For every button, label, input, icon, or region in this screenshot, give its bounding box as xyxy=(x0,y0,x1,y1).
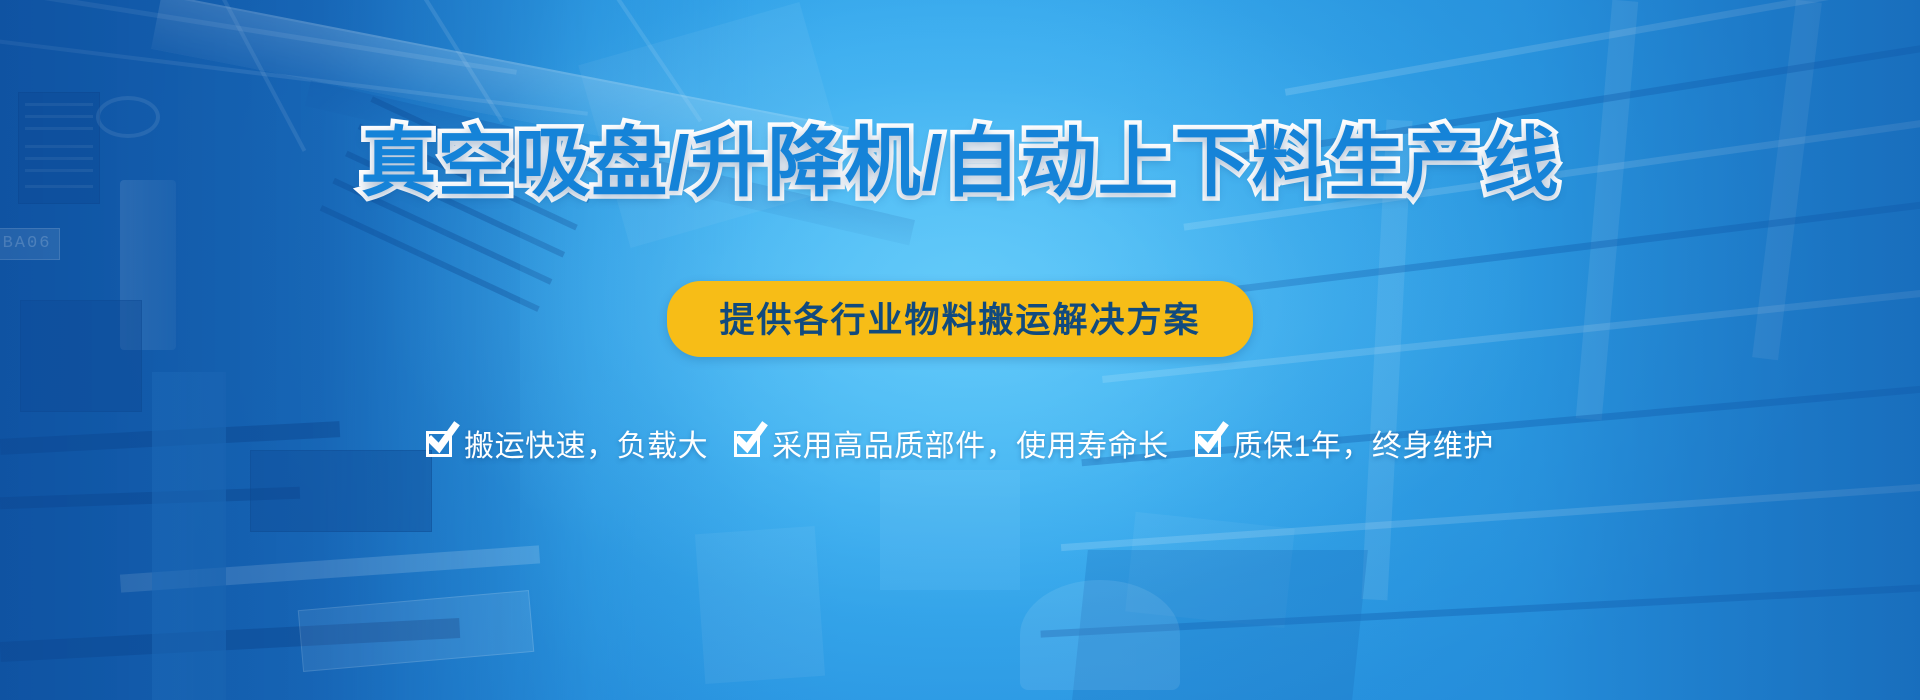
check-square-icon xyxy=(1195,428,1225,458)
feature-item: 搬运快速，负载大 xyxy=(426,421,708,465)
feature-label: 质保1年，终身维护 xyxy=(1233,421,1494,465)
hero-banner: BA06 xyxy=(0,0,1920,700)
feature-label: 搬运快速，负载大 xyxy=(464,421,708,465)
check-square-icon xyxy=(734,428,764,458)
banner-subtitle-badge: 提供各行业物料搬运解决方案 xyxy=(667,281,1252,357)
check-square-icon xyxy=(426,428,456,458)
banner-title: 真空吸盘/升降机/自动上下料生产线 xyxy=(360,124,1559,204)
feature-label: 采用高品质部件，使用寿命长 xyxy=(772,421,1169,465)
feature-item: 质保1年，终身维护 xyxy=(1195,421,1494,465)
feature-list: 搬运快速，负载大 采用高品质部件，使用寿命长 质保1 xyxy=(426,421,1494,465)
feature-item: 采用高品质部件，使用寿命长 xyxy=(734,421,1169,465)
banner-content: 真空吸盘/升降机/自动上下料生产线 提供各行业物料搬运解决方案 搬运快速，负载大 xyxy=(0,0,1920,700)
